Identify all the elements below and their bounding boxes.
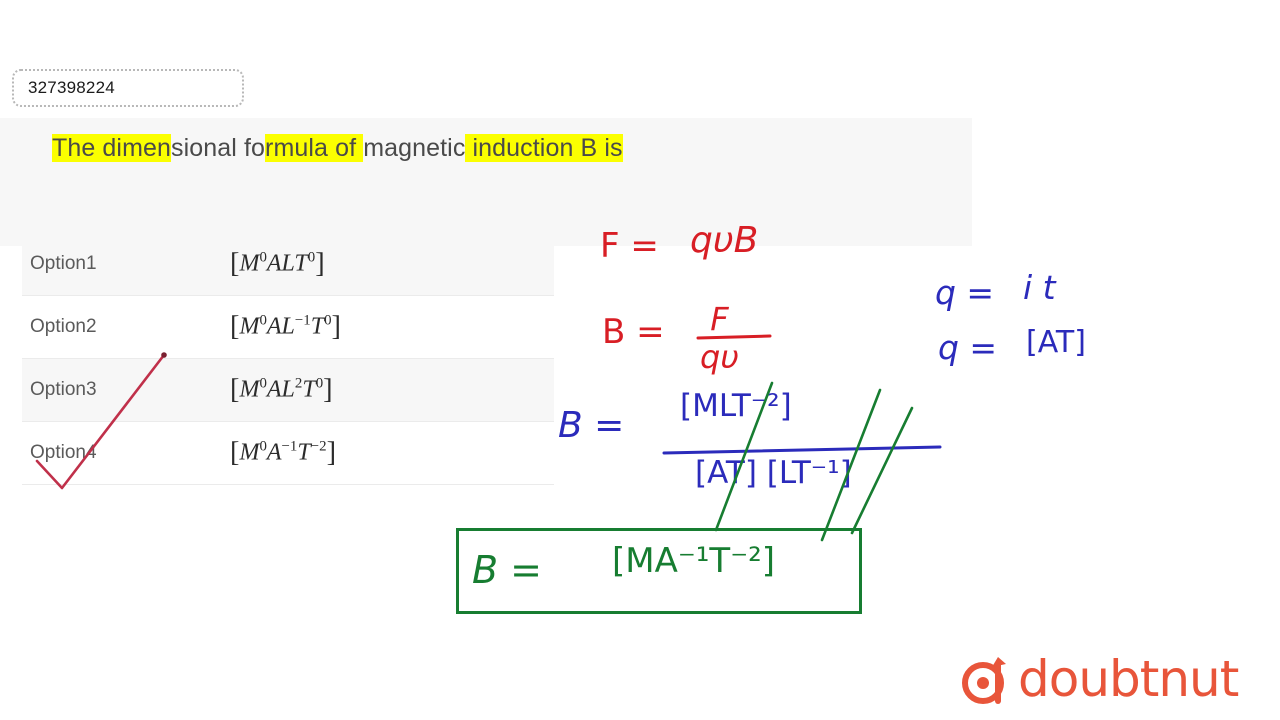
option-formula-2: [M0AL−1T0]	[230, 311, 341, 343]
doubtnut-logo: doubtnut	[962, 648, 1238, 710]
annotation-blue-b-derivation-numerator: [MLT⁻²]	[680, 388, 792, 424]
blue-fraction-bar	[664, 447, 940, 453]
annotation-blue-charge-eq-rhs: i t	[1023, 268, 1056, 307]
cancel-stroke-3-icon	[852, 408, 912, 533]
option-formula-1: [M0ALT0]	[230, 248, 325, 280]
annotation-blue-charge-eq-lhs: q =	[935, 273, 994, 312]
option-row-2[interactable]: Option2 [M0AL−1T0]	[22, 296, 554, 359]
annotation-blue-b-derivation-denominator: [AT] [LT⁻¹]	[695, 455, 852, 491]
question-segment-2: sional fo	[171, 134, 265, 162]
final-answer-lhs: B =	[472, 548, 542, 592]
annotation-red-fraction-denominator: qυ	[700, 338, 739, 376]
annotation-red-b-equation-lhs: B =	[602, 312, 665, 352]
final-answer-box	[456, 528, 862, 614]
annotation-red-fraction-numerator: F	[700, 300, 739, 338]
question-panel: The dimensional formula of magnetic indu…	[0, 118, 972, 246]
annotation-blue-charge-dim-rhs: [AT]	[1026, 325, 1086, 360]
cancel-stroke-1-icon	[716, 383, 772, 530]
option-row-1[interactable]: Option1 [M0ALT0]	[22, 233, 554, 296]
option-formula-3: [M0AL2T0]	[230, 374, 333, 406]
cancel-stroke-2-icon	[822, 390, 880, 540]
doubtnut-wordmark: doubtnut	[1018, 654, 1238, 704]
question-segment-1: The dimen	[52, 134, 171, 162]
question-id-text: 327398224	[28, 78, 115, 98]
option-row-4[interactable]: Option4 [M0A−1T−2]	[22, 422, 554, 485]
question-segment-4: magnetic	[363, 134, 465, 162]
question-id-badge: 327398224	[12, 69, 244, 107]
option-label-4: Option4	[30, 442, 97, 464]
annotation-red-b-fraction: F qυ	[700, 300, 739, 376]
option-label-3: Option3	[30, 379, 97, 401]
option-label-1: Option1	[30, 253, 97, 275]
final-answer-rhs: [MA⁻¹T⁻²]	[612, 541, 775, 581]
option-formula-4: [M0A−1T−2]	[230, 437, 336, 469]
doubtnut-mark-icon	[962, 653, 1012, 705]
question-segment-3: rmula of	[265, 134, 363, 162]
option-label-2: Option2	[30, 316, 97, 338]
annotation-blue-charge-dim-lhs: q =	[938, 328, 997, 367]
option-row-3[interactable]: Option3 [M0AL2T0]	[22, 359, 554, 422]
options-table: Option1 [M0ALT0] Option2 [M0AL−1T0] Opti…	[22, 233, 554, 485]
red-fraction-bar	[698, 336, 770, 338]
question-text: The dimensional formula of magnetic indu…	[52, 134, 623, 163]
annotation-blue-b-derivation-lhs: B =	[558, 405, 624, 446]
question-segment-5: induction B is	[465, 134, 622, 162]
